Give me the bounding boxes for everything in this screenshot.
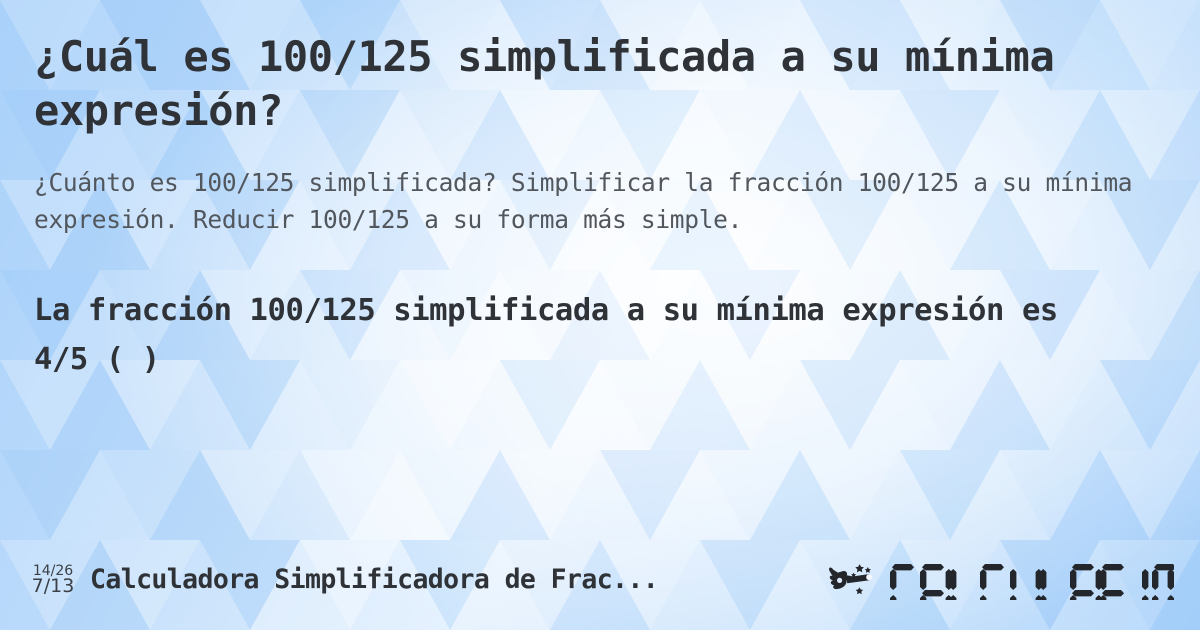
brand-wordmark [890, 560, 1174, 600]
card-content: ¿Cuál es 100/125 simplificada a su mínim… [0, 0, 1200, 630]
page-description: ¿Cuánto es 100/125 simplificada? Simplif… [34, 164, 1144, 240]
page-title: ¿Cuál es 100/125 simplificada a su mínim… [34, 30, 1124, 138]
footer-left: 14/26 7/13 Calculadora Simplificadora de… [30, 564, 828, 597]
footer: 14/26 7/13 Calculadora Simplificadora de… [0, 552, 1200, 608]
fraction-icon-bottom: 7/13 [32, 577, 75, 596]
site-name: Calculadora Simplificadora de Frac... [90, 564, 658, 595]
magic-wand-hand-icon [828, 560, 886, 600]
brand-logo[interactable] [828, 560, 1174, 600]
answer-statement: La fracción 100/125 simplificada a su mí… [34, 287, 1124, 385]
fraction-simplify-icon: 14/26 7/13 [30, 564, 76, 597]
og-card: ¿Cuál es 100/125 simplificada a su mínim… [0, 0, 1200, 630]
